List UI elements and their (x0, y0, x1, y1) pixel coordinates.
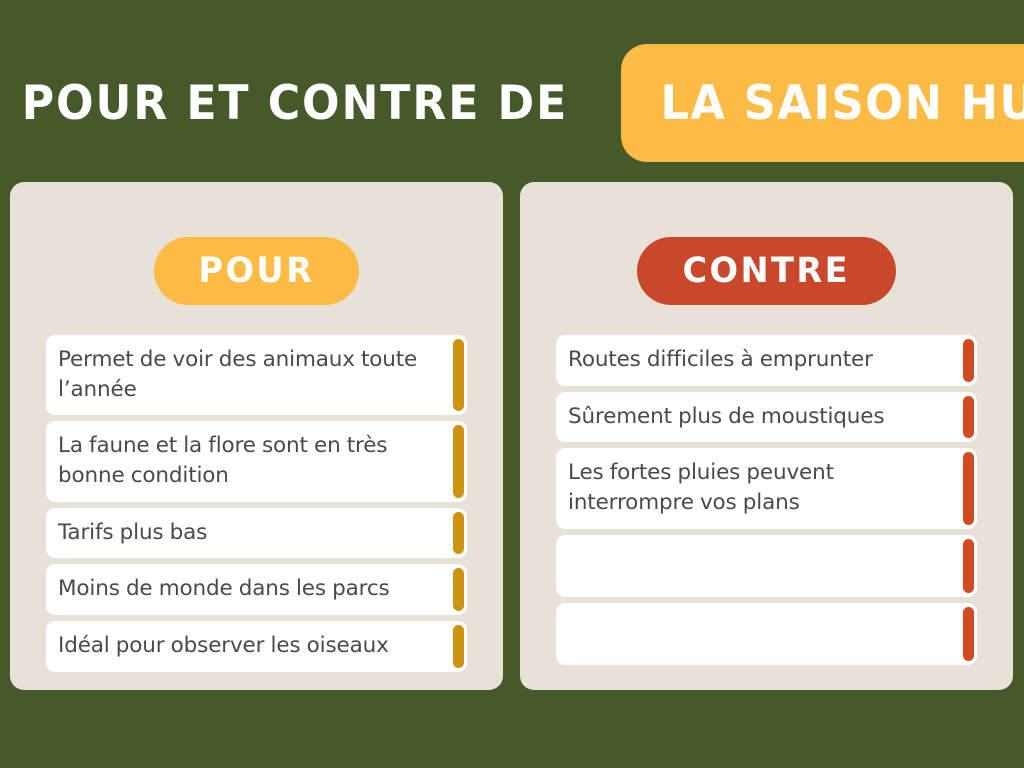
list-item-text: La faune et la flore sont en très bonne … (58, 431, 445, 490)
list-item-text (568, 613, 955, 653)
accent-bar-icon (963, 339, 974, 382)
title-highlight-pill: LA SAISON HUMIDE (621, 44, 1024, 162)
accent-bar-icon (963, 539, 974, 593)
title-lead-text: POUR ET CONTRE DE (18, 76, 568, 131)
accent-bar-icon (453, 339, 464, 411)
list-item[interactable]: Routes difficiles à emprunter (556, 335, 977, 386)
accent-bar-icon (963, 452, 974, 524)
list-item[interactable]: Tarifs plus bas (46, 508, 467, 559)
list-item-text: Sûrement plus de moustiques (568, 402, 955, 432)
list-item[interactable]: Moins de monde dans les parcs (46, 564, 467, 615)
list-item-text: Routes difficiles à emprunter (568, 345, 955, 375)
accent-bar-icon (453, 568, 464, 611)
list-item[interactable]: Sûrement plus de moustiques (556, 392, 977, 443)
list-item[interactable]: Permet de voir des animaux toute l’année (46, 335, 467, 415)
pour-card: POUR Permet de voir des animaux toute l’… (10, 182, 503, 690)
list-item-text: Idéal pour observer les oiseaux (58, 631, 445, 661)
list-item-text: Permet de voir des animaux toute l’année (58, 345, 445, 404)
contre-header-pill: CONTRE (637, 237, 895, 305)
accent-bar-icon (453, 625, 464, 668)
poster-root: POUR ET CONTRE DE LA SAISON HUMIDE POUR … (0, 0, 1024, 768)
contre-list: Routes difficiles à emprunter Sûrement p… (556, 335, 977, 665)
accent-bar-icon (453, 512, 464, 555)
list-item-text: Tarifs plus bas (58, 518, 445, 548)
list-item[interactable]: Les fortes pluies peuvent interrompre vo… (556, 448, 977, 528)
title-highlight-text: LA SAISON HUMIDE (661, 76, 1024, 131)
list-item[interactable] (556, 535, 977, 597)
list-item-text (568, 545, 955, 585)
pour-list: Permet de voir des animaux toute l’année… (46, 335, 467, 672)
contre-header-label: CONTRE (683, 251, 850, 291)
comparison-columns: POUR Permet de voir des animaux toute l’… (10, 182, 1014, 690)
list-item-text: Les fortes pluies peuvent interrompre vo… (568, 458, 955, 517)
list-item[interactable] (556, 603, 977, 665)
list-item[interactable]: Idéal pour observer les oiseaux (46, 621, 467, 672)
poster-title: POUR ET CONTRE DE LA SAISON HUMIDE (18, 42, 1006, 164)
list-item[interactable]: La faune et la flore sont en très bonne … (46, 421, 467, 501)
pour-header-pill: POUR (154, 237, 359, 305)
accent-bar-icon (963, 396, 974, 439)
pour-header-label: POUR (199, 251, 315, 291)
accent-bar-icon (453, 425, 464, 497)
contre-card: CONTRE Routes difficiles à emprunter Sûr… (520, 182, 1013, 690)
accent-bar-icon (963, 607, 974, 661)
list-item-text: Moins de monde dans les parcs (58, 574, 445, 604)
